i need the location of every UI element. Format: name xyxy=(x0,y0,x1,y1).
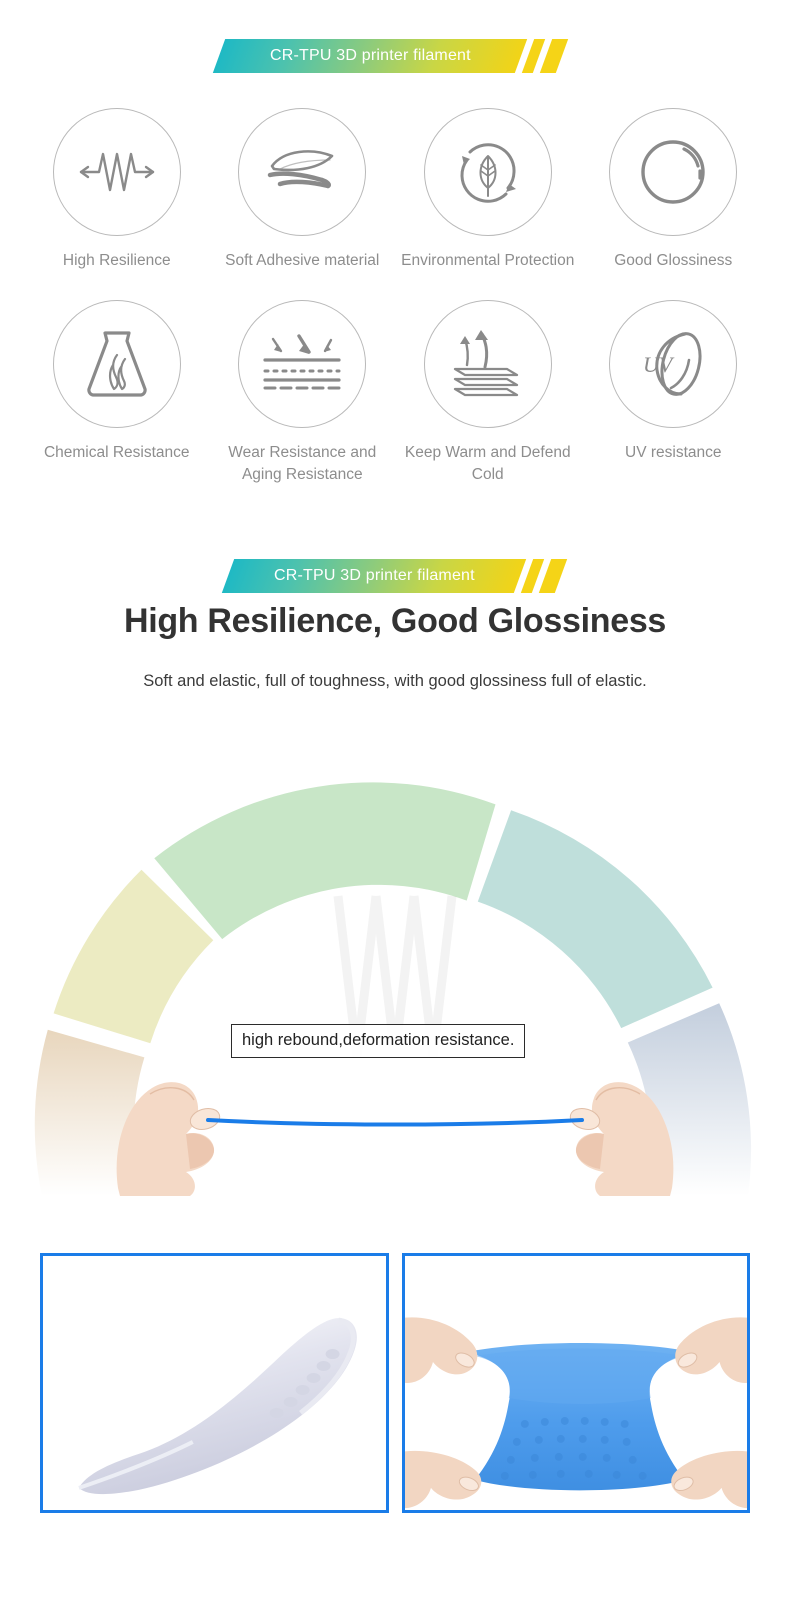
mid-banner-label: CR-TPU 3D printer filament xyxy=(258,567,491,585)
feature-keep-warm: Keep Warm and Defend Cold xyxy=(395,300,581,486)
svg-text:UV: UV xyxy=(643,352,675,377)
mid-banner-bar: CR-TPU 3D printer filament xyxy=(222,559,526,593)
insole-illustration xyxy=(43,1256,386,1510)
layers-up-arrows-icon xyxy=(445,327,531,401)
page-title: High Resilience, Good Glossiness xyxy=(0,602,790,641)
hand-leaf-icon xyxy=(262,142,342,202)
uv-shield-icon: UV xyxy=(633,326,713,402)
layers-down-arrows-icon xyxy=(259,333,345,395)
feature-circle xyxy=(238,300,366,428)
feature-high-resilience: High Resilience xyxy=(24,108,210,272)
flask-flame-icon xyxy=(83,325,151,403)
top-banner: CR-TPU 3D printer filament xyxy=(219,39,579,73)
feature-circle xyxy=(238,108,366,236)
feature-wear-resistance: Wear Resistance and Aging Resistance xyxy=(210,300,396,486)
arc-segment-green xyxy=(154,782,495,939)
feature-label: UV resistance xyxy=(586,442,761,464)
page-subtitle: Soft and elastic, full of toughness, wit… xyxy=(0,672,790,691)
arc-caption: high rebound,deformation resistance. xyxy=(231,1024,525,1058)
feature-label: High Resilience xyxy=(29,250,204,272)
feature-chemical-resistance: Chemical Resistance xyxy=(24,300,210,486)
feature-label: Keep Warm and Defend Cold xyxy=(400,442,575,486)
glossy-sphere-icon xyxy=(634,133,712,211)
banner-slash-4 xyxy=(539,559,567,593)
feature-label: Good Glossiness xyxy=(586,250,761,272)
arc-illustration xyxy=(0,726,790,1226)
feature-circle xyxy=(53,300,181,428)
tpu-insole-photo[interactable] xyxy=(40,1253,389,1513)
banner-slash-2 xyxy=(540,39,568,73)
feature-circle: UV xyxy=(609,300,737,428)
top-banner-label: CR-TPU 3D printer filament xyxy=(254,47,487,65)
feature-grid: High Resilience Soft Adhesive materi xyxy=(24,108,766,486)
feature-row-2: Chemical Resistance xyxy=(24,300,766,486)
tpu-stretch-sheet-photo[interactable] xyxy=(402,1253,751,1513)
hands-stretching-filament xyxy=(117,1082,674,1196)
filament-strand xyxy=(208,1120,582,1125)
feature-label: Soft Adhesive material xyxy=(215,250,390,272)
feature-label: Environmental Protection xyxy=(400,250,575,272)
feature-label: Wear Resistance and Aging Resistance xyxy=(215,442,390,486)
feature-circle xyxy=(53,108,181,236)
feature-circle xyxy=(609,108,737,236)
feature-good-glossiness: Good Glossiness xyxy=(581,108,767,272)
feature-uv-resistance: UV UV resistance xyxy=(581,300,767,486)
product-feature-page: CR-TPU 3D printer filament High Resilien… xyxy=(0,0,790,1600)
feature-circle xyxy=(424,108,552,236)
top-banner-bar: CR-TPU 3D printer filament xyxy=(213,39,527,73)
feature-label: Chemical Resistance xyxy=(29,442,204,464)
product-photo-row xyxy=(40,1253,750,1513)
mid-banner: CR-TPU 3D printer filament xyxy=(228,559,578,593)
feature-circle xyxy=(424,300,552,428)
feature-row-1: High Resilience Soft Adhesive materi xyxy=(24,108,766,272)
stretch-sheet-illustration xyxy=(405,1256,748,1510)
spring-arrows-icon xyxy=(73,142,161,202)
feature-soft-adhesive: Soft Adhesive material xyxy=(210,108,396,272)
feature-environmental-protection: Environmental Protection xyxy=(395,108,581,272)
arc-segment-teal xyxy=(478,810,713,1028)
recycle-leaf-icon xyxy=(450,134,526,210)
